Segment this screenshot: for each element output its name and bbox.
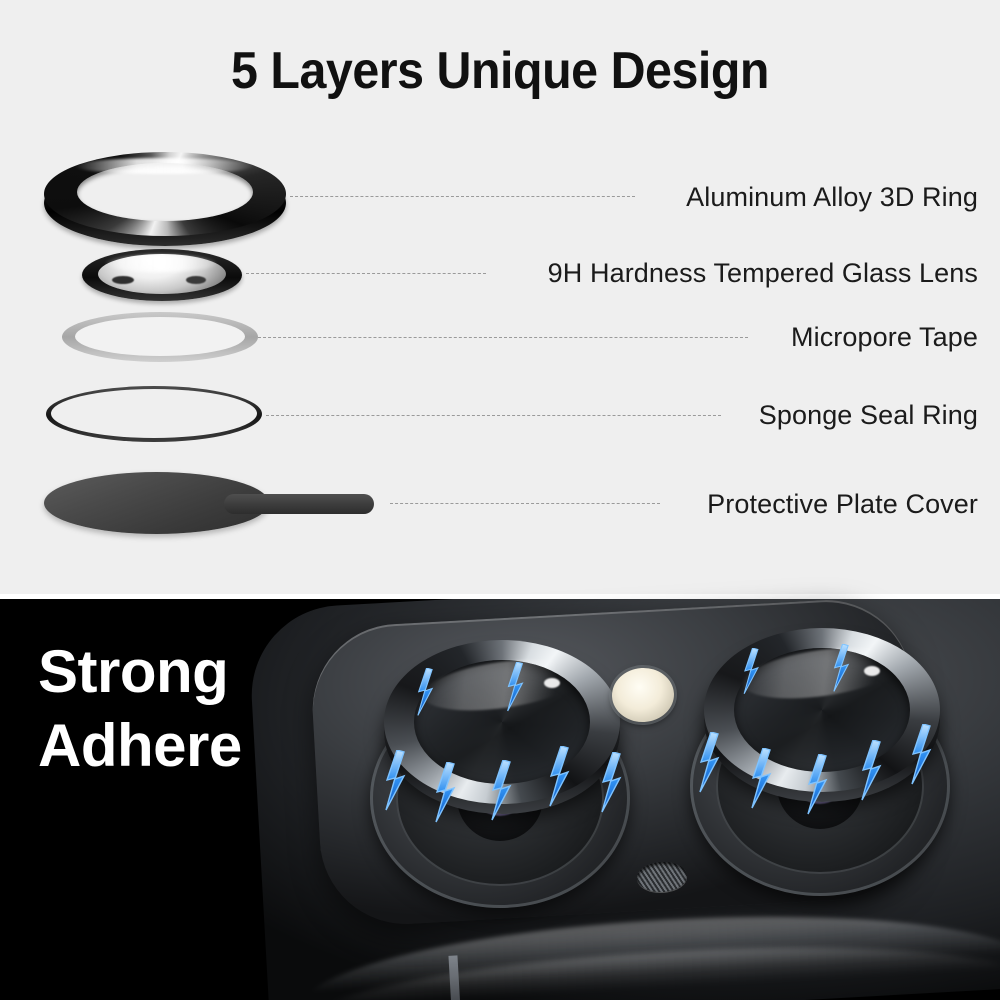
- lightning-bolt-icon: [804, 754, 830, 830]
- headline: Strong Adhere: [38, 635, 242, 783]
- lightning-bolt-icon: [738, 648, 764, 706]
- camera-lens-left: [370, 640, 630, 910]
- lightning-bolt-icon: [432, 762, 458, 838]
- tape-inner-hole: [75, 317, 245, 356]
- aluminum-ring-left-specular: [544, 678, 560, 688]
- layer-label-tempered-glass-lens: 9H Hardness Tempered Glass Lens: [548, 258, 978, 289]
- tempered-glass-lens-graphic: [82, 249, 242, 303]
- lightning-bolt-icon: [598, 752, 624, 828]
- aluminum-alloy-3d-ring-graphic: [44, 152, 286, 246]
- lens-sheen: [106, 255, 216, 272]
- product-infographic: 5 Layers Unique Design Aluminum Alloy 3D…: [0, 0, 1000, 1000]
- lightning-bolt-icon: [748, 748, 774, 824]
- lightning-bolt-icon: [382, 750, 408, 826]
- leader-line-5: [390, 503, 660, 504]
- headline-line-1: Strong: [38, 635, 242, 709]
- lens-shadow-right: [186, 276, 206, 284]
- lens-shadow-left: [112, 276, 134, 284]
- lightning-bolt-icon: [696, 732, 722, 808]
- sponge-inner-hole: [51, 389, 257, 438]
- micropore-tape-graphic: [62, 312, 258, 364]
- aluminum-ring-right-specular: [864, 666, 880, 676]
- lightning-bolt-icon: [858, 740, 884, 816]
- headline-line-2: Adhere: [38, 709, 242, 783]
- plate-pull-tab: [224, 494, 374, 514]
- lightning-bolt-icon: [412, 668, 438, 728]
- protective-plate-cover-graphic: [44, 472, 384, 536]
- leader-line-2: [246, 273, 486, 274]
- sponge-seal-ring-graphic: [46, 386, 262, 444]
- layers-panel: 5 Layers Unique Design Aluminum Alloy 3D…: [0, 0, 1000, 594]
- leader-line-4: [266, 415, 721, 416]
- layer-label-aluminum-alloy-3d-ring: Aluminum Alloy 3D Ring: [686, 182, 978, 213]
- lightning-bolt-icon: [502, 662, 528, 724]
- lightning-bolt-icon: [488, 760, 514, 836]
- page-title: 5 Layers Unique Design: [35, 41, 965, 101]
- lightning-bolt-icon: [908, 724, 934, 800]
- layer-label-protective-plate-cover: Protective Plate Cover: [707, 489, 978, 520]
- lightning-bolt-icon: [546, 746, 572, 822]
- layer-label-micropore-tape: Micropore Tape: [791, 322, 978, 353]
- leader-line-3: [258, 337, 748, 338]
- lightning-bolt-icon: [828, 644, 854, 704]
- leader-line-1: [290, 196, 635, 197]
- layer-label-sponge-seal-ring: Sponge Seal Ring: [759, 400, 978, 431]
- camera-lens-right: [690, 628, 950, 898]
- ring-highlight: [74, 158, 254, 174]
